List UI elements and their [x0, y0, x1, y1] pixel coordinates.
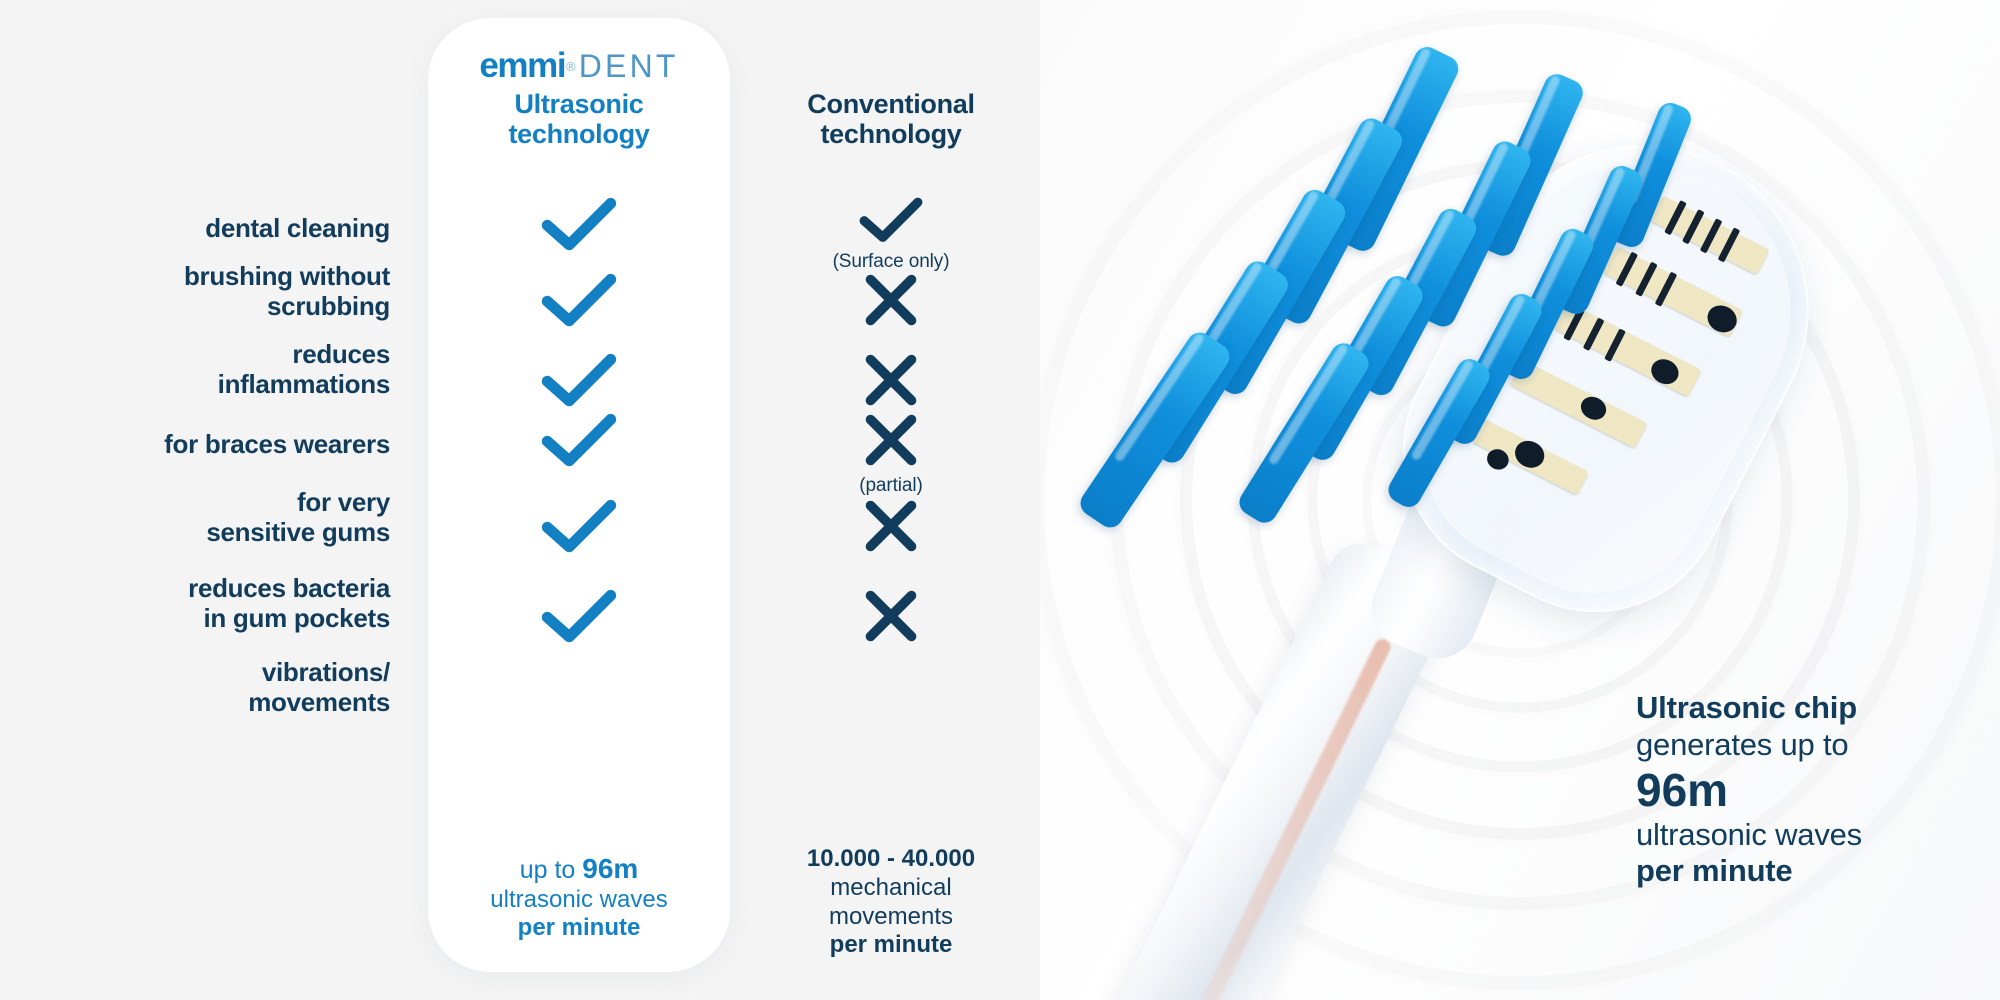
cross-icon [863, 588, 919, 644]
summary-ultrasonic: up to 96m ultrasonic waves per minute [428, 852, 730, 943]
row-label-line1: for very [40, 487, 390, 517]
row-label: for verysensitive gums [40, 487, 390, 547]
cell-ultrasonic [428, 498, 730, 559]
cell-ultrasonic [428, 352, 730, 413]
summary-ultrasonic-line1: up to 96m [428, 852, 730, 886]
row-label: reducesinflammations [40, 339, 390, 399]
summary-conventional-line4: per minute [740, 931, 1042, 960]
summary-conventional: 10.000 - 40.000 mechanical movements per… [740, 845, 1042, 960]
cell-conventional [740, 498, 1042, 559]
row-label-line2: scrubbing [40, 291, 390, 321]
cell-conventional-note: (partial) [740, 475, 1042, 497]
row-label-line2: in gum pockets [40, 603, 390, 633]
cross-icon [863, 352, 919, 408]
bristle-tuft [1076, 328, 1235, 533]
check-icon [540, 352, 618, 408]
check-icon [540, 196, 618, 252]
summary-ultrasonic-line3: per minute [428, 914, 730, 943]
cross-icon [863, 498, 919, 554]
callout-line-2: generates up to [1636, 727, 1996, 764]
ultrasonic-chip-callout: Ultrasonic chip generates up to 96m ultr… [1636, 690, 1996, 890]
summary-conventional-line1: 10.000 - 40.000 [740, 845, 1042, 874]
row-label-line1: reduces [40, 339, 390, 369]
cell-ultrasonic [428, 196, 730, 257]
check-icon [540, 498, 618, 554]
cell-conventional [740, 352, 1042, 413]
check-icon [540, 588, 618, 644]
cross-icon [863, 272, 919, 328]
check-icon [540, 412, 618, 468]
summary-ultrasonic-line2: ultrasonic waves [428, 886, 730, 915]
callout-line-4: ultrasonic waves [1636, 817, 1996, 854]
check-icon [858, 196, 924, 244]
row-label: dental cleaning [40, 213, 390, 243]
summary-ultrasonic-value: 96m [582, 853, 638, 884]
cell-conventional: (partial) [740, 412, 1042, 497]
cell-ultrasonic [428, 412, 730, 473]
cross-icon [863, 412, 919, 468]
row-label-line2: movements [40, 687, 390, 717]
row-label-line1: reduces bacteria [40, 573, 390, 603]
row-label-line1: dental cleaning [40, 213, 390, 243]
row-label: reduces bacteriain gum pockets [40, 573, 390, 633]
row-label-line2: inflammations [40, 369, 390, 399]
callout-line-1: Ultrasonic chip [1636, 690, 1996, 727]
row-label-line2: sensitive gums [40, 517, 390, 547]
row-label: for braces wearers [40, 429, 390, 459]
cell-conventional [740, 588, 1042, 649]
cell-ultrasonic [428, 588, 730, 649]
callout-value: 96m [1636, 765, 1996, 817]
row-label: brushing withoutscrubbing [40, 261, 390, 321]
row-label-line1: brushing without [40, 261, 390, 291]
row-label-line1: vibrations/ [40, 657, 390, 687]
summary-conventional-line2: mechanical [740, 874, 1042, 903]
cell-conventional: (Surface only) [740, 196, 1042, 273]
cell-conventional-note: (Surface only) [740, 251, 1042, 273]
cell-ultrasonic [428, 272, 730, 333]
summary-conventional-line3: movements [740, 903, 1042, 932]
cell-conventional [740, 272, 1042, 333]
row-label-line1: for braces wearers [40, 429, 390, 459]
row-label: vibrations/movements [40, 657, 390, 717]
callout-line-5: per minute [1636, 853, 1996, 890]
check-icon [540, 272, 618, 328]
